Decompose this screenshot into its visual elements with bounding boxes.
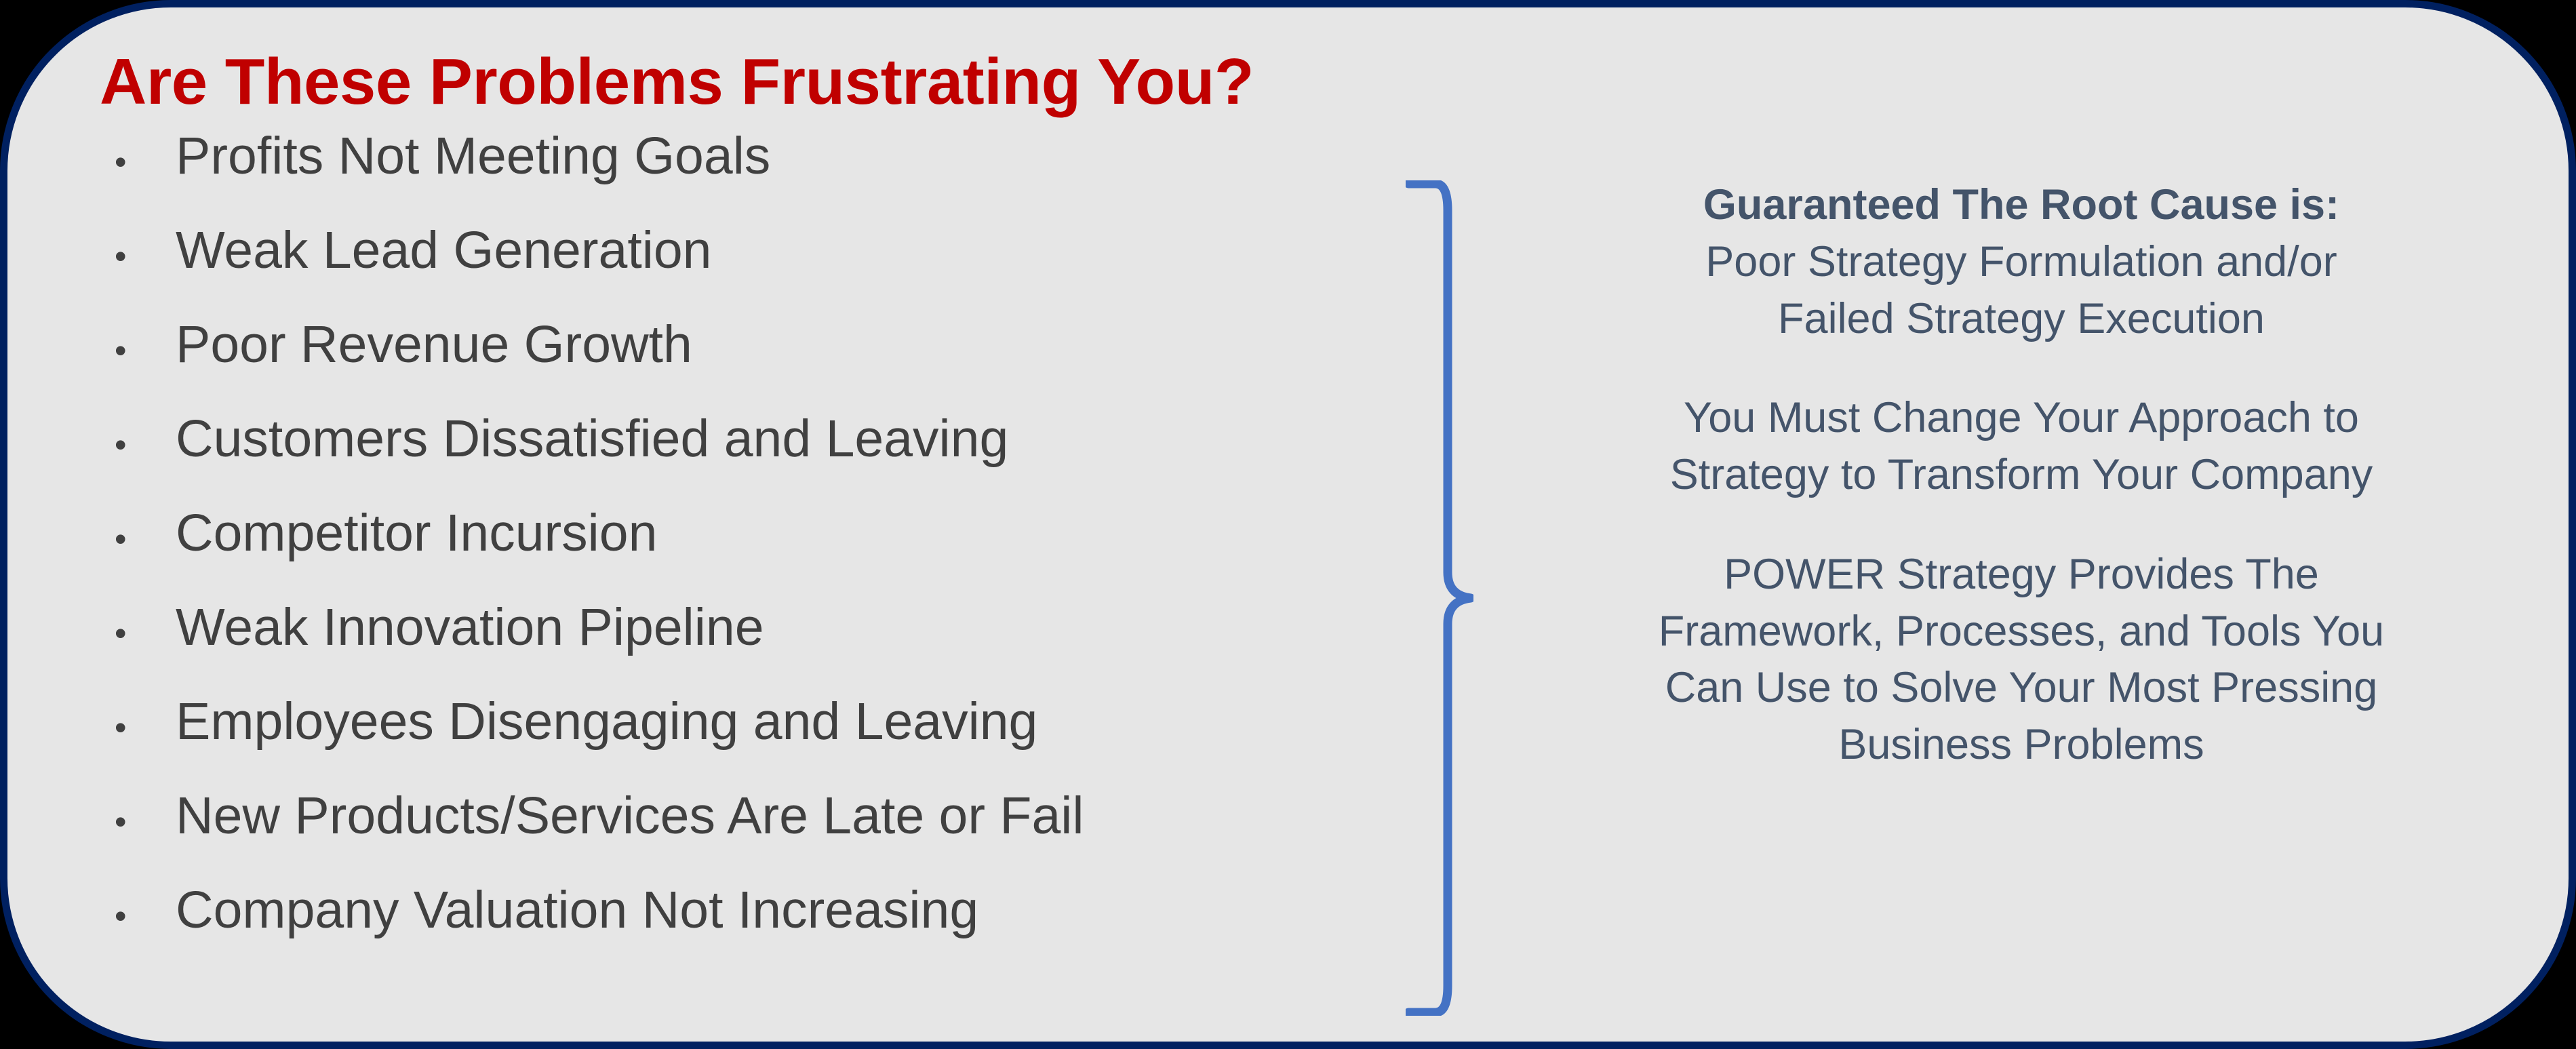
problem-list-item: •New Products/Services Are Late or Fail [87, 786, 1376, 880]
problem-list-item: •Employees Disengaging and Leaving [87, 692, 1376, 786]
bullet-icon: • [87, 805, 176, 839]
bullet-icon: • [87, 145, 176, 179]
problem-list-item: •Customers Dissatisfied and Leaving [87, 409, 1376, 503]
root-cause-line: Business Problems [1533, 717, 2510, 774]
root-cause-panel: Guaranteed The Root Cause is:Poor Strate… [1533, 177, 2510, 774]
bullet-icon: • [87, 711, 176, 745]
problem-label: Customers Dissatisfied and Leaving [176, 409, 1008, 469]
problem-label: Poor Revenue Growth [176, 315, 692, 375]
root-cause-line: Failed Strategy Execution [1533, 291, 2510, 348]
root-cause-line: Poor Strategy Formulation and/or [1533, 234, 2510, 291]
page-title: Are These Problems Frustrating You? [100, 48, 1376, 117]
problems-list: •Profits Not Meeting Goals•Weak Lead Gen… [87, 126, 1376, 974]
bullet-icon: • [87, 616, 176, 650]
bullet-icon: • [87, 899, 176, 933]
problem-label: Profits Not Meeting Goals [176, 126, 770, 186]
bullet-icon: • [87, 239, 176, 273]
slide-card: Are These Problems Frustrating You? •Pro… [0, 0, 2576, 1049]
problem-label: Employees Disengaging and Leaving [176, 692, 1037, 752]
root-cause-heading: Guaranteed The Root Cause is: [1533, 177, 2510, 234]
problem-list-item: •Competitor Incursion [87, 503, 1376, 597]
problem-label: New Products/Services Are Late or Fail [176, 786, 1084, 846]
brace-svg [1406, 180, 1473, 1016]
root-cause-line: POWER Strategy Provides The [1533, 547, 2510, 603]
paragraph-spacer [1533, 504, 2510, 547]
right-curly-brace-icon [1406, 180, 1473, 1016]
bullet-icon: • [87, 522, 176, 556]
problems-panel: Are These Problems Frustrating You? •Pro… [87, 48, 1376, 1011]
problem-list-item: •Company Valuation Not Increasing [87, 880, 1376, 974]
problem-list-item: •Weak Lead Generation [87, 220, 1376, 315]
root-cause-line: Can Use to Solve Your Most Pressing [1533, 660, 2510, 717]
root-cause-line: You Must Change Your Approach to [1533, 390, 2510, 447]
problem-label: Weak Lead Generation [176, 220, 712, 281]
paragraph-spacer [1533, 347, 2510, 390]
bullet-icon: • [87, 428, 176, 462]
problem-list-item: •Poor Revenue Growth [87, 315, 1376, 409]
problem-list-item: •Weak Innovation Pipeline [87, 597, 1376, 692]
problem-label: Competitor Incursion [176, 503, 657, 563]
problem-label: Company Valuation Not Increasing [176, 880, 978, 941]
problem-list-item: •Profits Not Meeting Goals [87, 126, 1376, 220]
root-cause-line: Strategy to Transform Your Company [1533, 447, 2510, 504]
problem-label: Weak Innovation Pipeline [176, 597, 764, 658]
root-cause-line: Framework, Processes, and Tools You [1533, 603, 2510, 660]
bullet-icon: • [87, 334, 176, 368]
